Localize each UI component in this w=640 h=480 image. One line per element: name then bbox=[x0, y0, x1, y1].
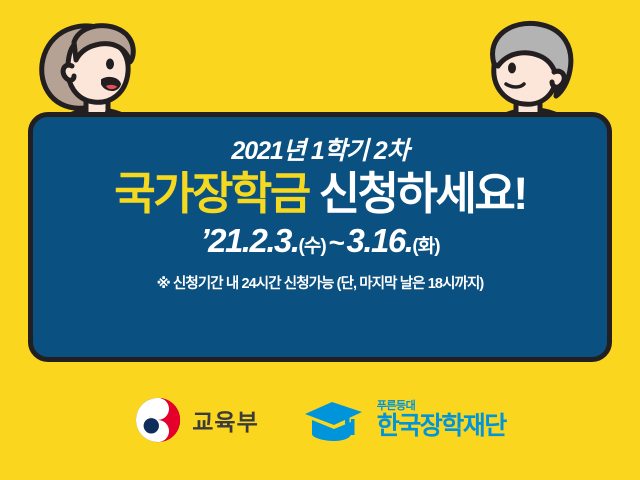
foundation-sub-label: 푸른등대 bbox=[377, 401, 415, 412]
graduation-cap-lighthouse-icon bbox=[303, 397, 365, 443]
semester-eyebrow: 2021년 1학기 2차 bbox=[231, 139, 408, 164]
period-start-date: ’21.2.3. bbox=[200, 222, 298, 259]
foundation-text: 푸른등대 한국장학재단 bbox=[377, 401, 506, 439]
headline-highlight: 국가장학금 bbox=[114, 168, 309, 219]
application-period: ’21.2.3.(수)~3.16.(화) bbox=[200, 224, 439, 257]
eye-icon bbox=[508, 63, 516, 74]
ministry-of-education-logo: 교육부 bbox=[134, 396, 258, 444]
headline: 국가장학금 신청하세요! bbox=[114, 170, 526, 218]
taegeuk-icon bbox=[134, 396, 182, 444]
period-end-weekday: (화) bbox=[412, 236, 439, 257]
ministry-label: 교육부 bbox=[192, 403, 258, 437]
period-separator: ~ bbox=[326, 227, 347, 258]
announcement-board: 2021년 1학기 2차 국가장학금 신청하세요! ’21.2.3.(수)~3.… bbox=[28, 112, 612, 362]
scholarship-banner: 2021년 1학기 2차 국가장학금 신청하세요! ’21.2.3.(수)~3.… bbox=[0, 0, 640, 480]
foundation-logo: 푸른등대 한국장학재단 bbox=[303, 397, 506, 443]
period-end-date: 3.16. bbox=[347, 222, 413, 259]
eye-icon bbox=[106, 59, 114, 70]
logo-row: 교육부 푸른등대 한국장학재단 bbox=[0, 388, 640, 452]
headline-rest: 신청하세요! bbox=[309, 168, 526, 219]
application-note: ※ 신청기간 내 24시간 신청가능 (단, 마지막 날은 18시까지) bbox=[157, 277, 484, 292]
period-start-weekday: (수) bbox=[299, 236, 326, 257]
foundation-label: 한국장학재단 bbox=[377, 414, 506, 439]
